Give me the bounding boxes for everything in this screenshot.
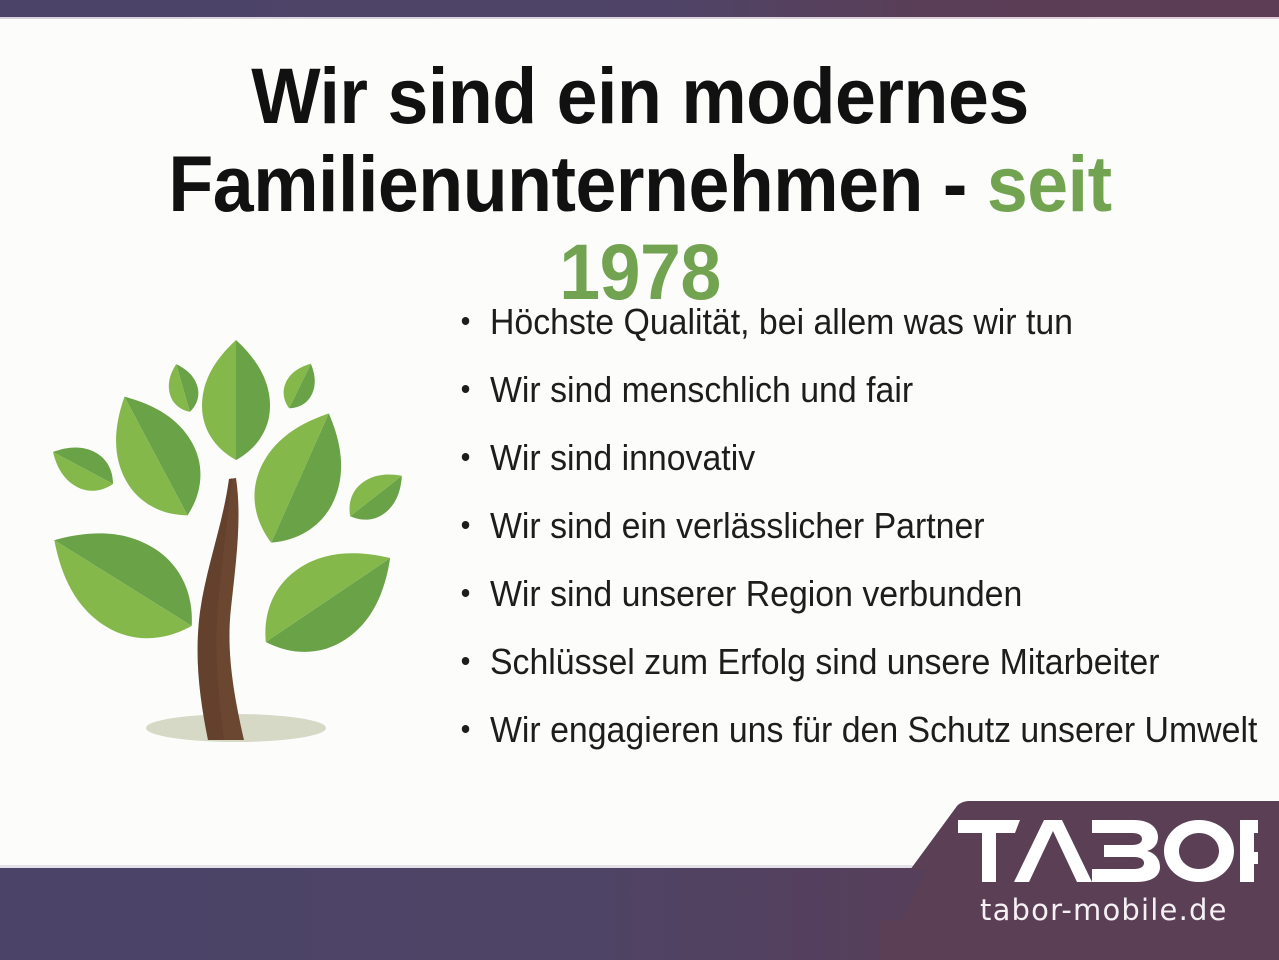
tree-leaf — [339, 461, 414, 531]
bullet-dot-icon — [462, 317, 470, 325]
top-accent-hairline — [0, 17, 1279, 19]
list-item-label: Wir sind innovativ — [490, 436, 755, 480]
list-item: Wir sind innovativ — [458, 436, 1219, 504]
list-item-label: Wir sind unserer Region verbunden — [490, 572, 1022, 616]
bullet-dot-icon — [462, 521, 470, 529]
list-item-label: Wir sind ein verlässlicher Partner — [490, 504, 985, 548]
title-line-2: Familienunternehmen - seit 1978 — [101, 140, 1180, 316]
title-line-1: Wir sind ein modernes — [251, 51, 1028, 140]
logo-badge — [880, 800, 1279, 960]
tree-leaf — [276, 357, 323, 414]
tree-leaf — [162, 360, 203, 416]
bullet-dot-icon — [462, 385, 470, 393]
tree-leaf — [242, 523, 414, 677]
tree-illustration — [28, 328, 440, 760]
list-item: Höchste Qualität, bei allem was wir tun — [458, 300, 1219, 368]
list-item-label: Höchste Qualität, bei allem was wir tun — [490, 300, 1073, 344]
page-title: Wir sind ein modernes Familienunternehme… — [101, 52, 1180, 316]
bullet-dot-icon — [462, 725, 470, 733]
tree-leaf — [44, 435, 122, 501]
list-item-label: Schlüssel zum Erfolg sind unsere Mitarbe… — [490, 640, 1160, 684]
list-item-label: Wir engagieren uns für den Schutz unsere… — [490, 708, 1257, 752]
list-item: Wir engagieren uns für den Schutz unsere… — [458, 708, 1219, 776]
slide: Wir sind ein modernes Familienunternehme… — [0, 0, 1279, 960]
bullet-dot-icon — [462, 589, 470, 597]
list-item: Wir sind unserer Region verbunden — [458, 572, 1219, 640]
top-accent-bar — [0, 0, 1279, 17]
title-line-2-main: Familienunternehmen - — [168, 139, 986, 228]
list-item: Wir sind menschlich und fair — [458, 368, 1219, 436]
tree-leaf — [30, 501, 216, 665]
list-item: Schlüssel zum Erfolg sind unsere Mitarbe… — [458, 640, 1219, 708]
tree-leaf — [91, 379, 221, 533]
value-list: Höchste Qualität, bei allem was wir tun … — [458, 300, 1268, 776]
list-item-label: Wir sind menschlich und fair — [490, 368, 913, 412]
bullet-dot-icon — [462, 657, 470, 665]
list-item: Wir sind ein verlässlicher Partner — [458, 504, 1219, 572]
tree-leaf — [202, 340, 270, 460]
bullet-dot-icon — [462, 453, 470, 461]
